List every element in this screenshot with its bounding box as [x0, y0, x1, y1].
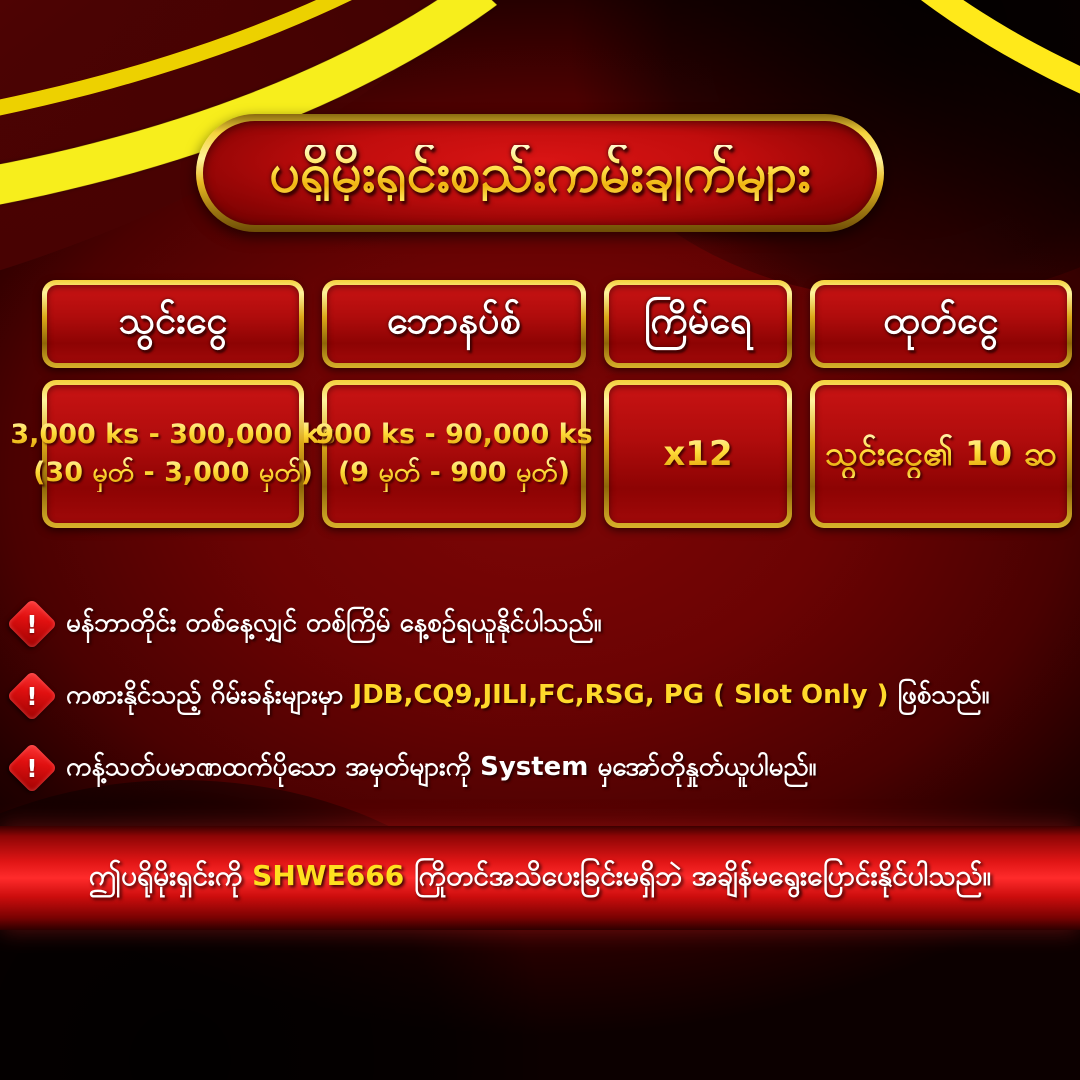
promotion-poster: ပရိုမိုးရှင်းစည်းကမ်းချက်များ သွင်းငွေ ဘ…	[0, 0, 1080, 1080]
warning-icon-exclamation: !	[14, 606, 50, 642]
table-cell-turnover-inner: x12	[609, 385, 787, 523]
list-item-text-pre: ကန့်သတ်ပမာဏထက်ပိုသော အမှတ်များကို System…	[66, 752, 816, 782]
title-banner: ပရိုမိုးရှင်းစည်းကမ်းချက်များ	[196, 114, 884, 232]
page-title: ပရိုမိုးရှင်းစည်းကမ်းချက်များ	[269, 145, 811, 202]
list-item-text: မန်ဘာတိုင်း တစ်နေ့လျှင် တစ်ကြိမ် နေ့စဉ်ရ…	[66, 605, 602, 644]
table-header-label: ထုတ်ငွေ	[883, 296, 998, 352]
table-header-bonus: ဘောနပ်စ်	[322, 280, 586, 368]
bottom-left-shadow-decoration	[0, 780, 560, 1080]
table-header-deposit: သွင်းငွေ	[42, 280, 304, 368]
warning-icon-exclamation: !	[14, 750, 50, 786]
terms-list: ! မန်ဘာတိုင်း တစ်နေ့လျှင် တစ်ကြိမ် နေ့စဉ…	[14, 588, 1069, 804]
table-header-label: ကြိမ်ရေ	[644, 296, 752, 352]
list-item-text-highlight: JDB,CQ9,JILI,FC,RSG, PG ( Slot Only )	[352, 680, 888, 710]
table-cell-line-2: (30 မှတ် - 3,000 မှတ်)	[33, 454, 313, 492]
table-cell-withdraw-value: သွင်းငွေ၏ 10 ဆ	[810, 380, 1072, 528]
table-header-turnover-inner: ကြိမ်ရေ	[609, 285, 787, 363]
list-item: ! မန်ဘာတိုင်း တစ်နေ့လျှင် တစ်ကြိမ် နေ့စဉ…	[14, 588, 1069, 660]
footer-text-pre: ဤပရိုမိုးရှင်းကို	[89, 859, 252, 892]
warning-icon: !	[14, 750, 50, 786]
warning-icon: !	[14, 606, 50, 642]
list-item-text-pre: မန်ဘာတိုင်း တစ်နေ့လျှင် တစ်ကြိမ် နေ့စဉ်ရ…	[66, 608, 602, 638]
title-banner-inner: ပရိုမိုးရှင်းစည်းကမ်းချက်များ	[203, 121, 877, 225]
list-item: ! ကန့်သတ်ပမာဏထက်ပိုသော အမှတ်များကို Syst…	[14, 732, 1069, 804]
table-cell-line-1: 900 ks - 90,000 ks	[315, 416, 592, 454]
table-cell-line-1: 3,000 ks - 300,000 ks	[10, 416, 335, 454]
footer-banner: ဤပရိုမိုးရှင်းကို SHWE666 ကြိုတင်အသိပေးခ…	[0, 826, 1080, 930]
table-header-label: သွင်းငွေ	[118, 296, 227, 352]
table-header-withdraw-inner: ထုတ်ငွေ	[815, 285, 1067, 363]
table-cell-deposit-value: 3,000 ks - 300,000 ks (30 မှတ် - 3,000 မ…	[42, 380, 304, 528]
table-cell-deposit-inner: 3,000 ks - 300,000 ks (30 မှတ် - 3,000 မ…	[47, 385, 299, 523]
footer-text-post: ကြိုတင်အသိပေးခြင်းမရှိဘဲ အချိန်မရွေးပြော…	[404, 859, 991, 892]
table-header-turnover: ကြိမ်ရေ	[604, 280, 792, 368]
list-item: ! ကစားနိုင်သည့် ဂိမ်းခန်းများမှာ JDB,CQ9…	[14, 660, 1069, 732]
table-cell-turnover-value: x12	[604, 380, 792, 528]
table-header-withdraw: ထုတ်ငွေ	[810, 280, 1072, 368]
promotion-table: သွင်းငွေ ဘောနပ်စ် ကြိမ်ရေ ထုတ်ငွေ 3,000 …	[42, 280, 1038, 528]
list-item-text: ကစားနိုင်သည့် ဂိမ်းခန်းများမှာ JDB,CQ9,J…	[66, 677, 990, 716]
table-header-bonus-inner: ဘောနပ်စ်	[327, 285, 581, 363]
table-cell-line-2: (9 မှတ် - 900 မှတ်)	[338, 454, 570, 492]
warning-icon: !	[14, 678, 50, 714]
table-cell-bonus-value: 900 ks - 90,000 ks (9 မှတ် - 900 မှတ်)	[322, 380, 586, 528]
list-item-text: ကန့်သတ်ပမာဏထက်ပိုသော အမှတ်များကို System…	[66, 749, 816, 788]
list-item-text-pre: ကစားနိုင်သည့် ဂိမ်းခန်းများမှာ	[66, 680, 352, 710]
table-header-deposit-inner: သွင်းငွေ	[47, 285, 299, 363]
table-cell-line-1: x12	[663, 430, 732, 478]
table-cell-withdraw-inner: သွင်းငွေ၏ 10 ဆ	[815, 385, 1067, 523]
table-cell-bonus-inner: 900 ks - 90,000 ks (9 မှတ် - 900 မှတ်)	[327, 385, 581, 523]
table-cell-line-1: သွင်းငွေ၏ 10 ဆ	[825, 430, 1057, 478]
list-item-text-post: ဖြစ်သည်။	[888, 680, 989, 710]
table-header-label: ဘောနပ်စ်	[387, 296, 521, 352]
footer-disclaimer: ဤပရိုမိုးရှင်းကို SHWE666 ကြိုတင်အသိပေးခ…	[89, 857, 991, 899]
brand-name: SHWE666	[252, 859, 404, 892]
warning-icon-exclamation: !	[14, 678, 50, 714]
